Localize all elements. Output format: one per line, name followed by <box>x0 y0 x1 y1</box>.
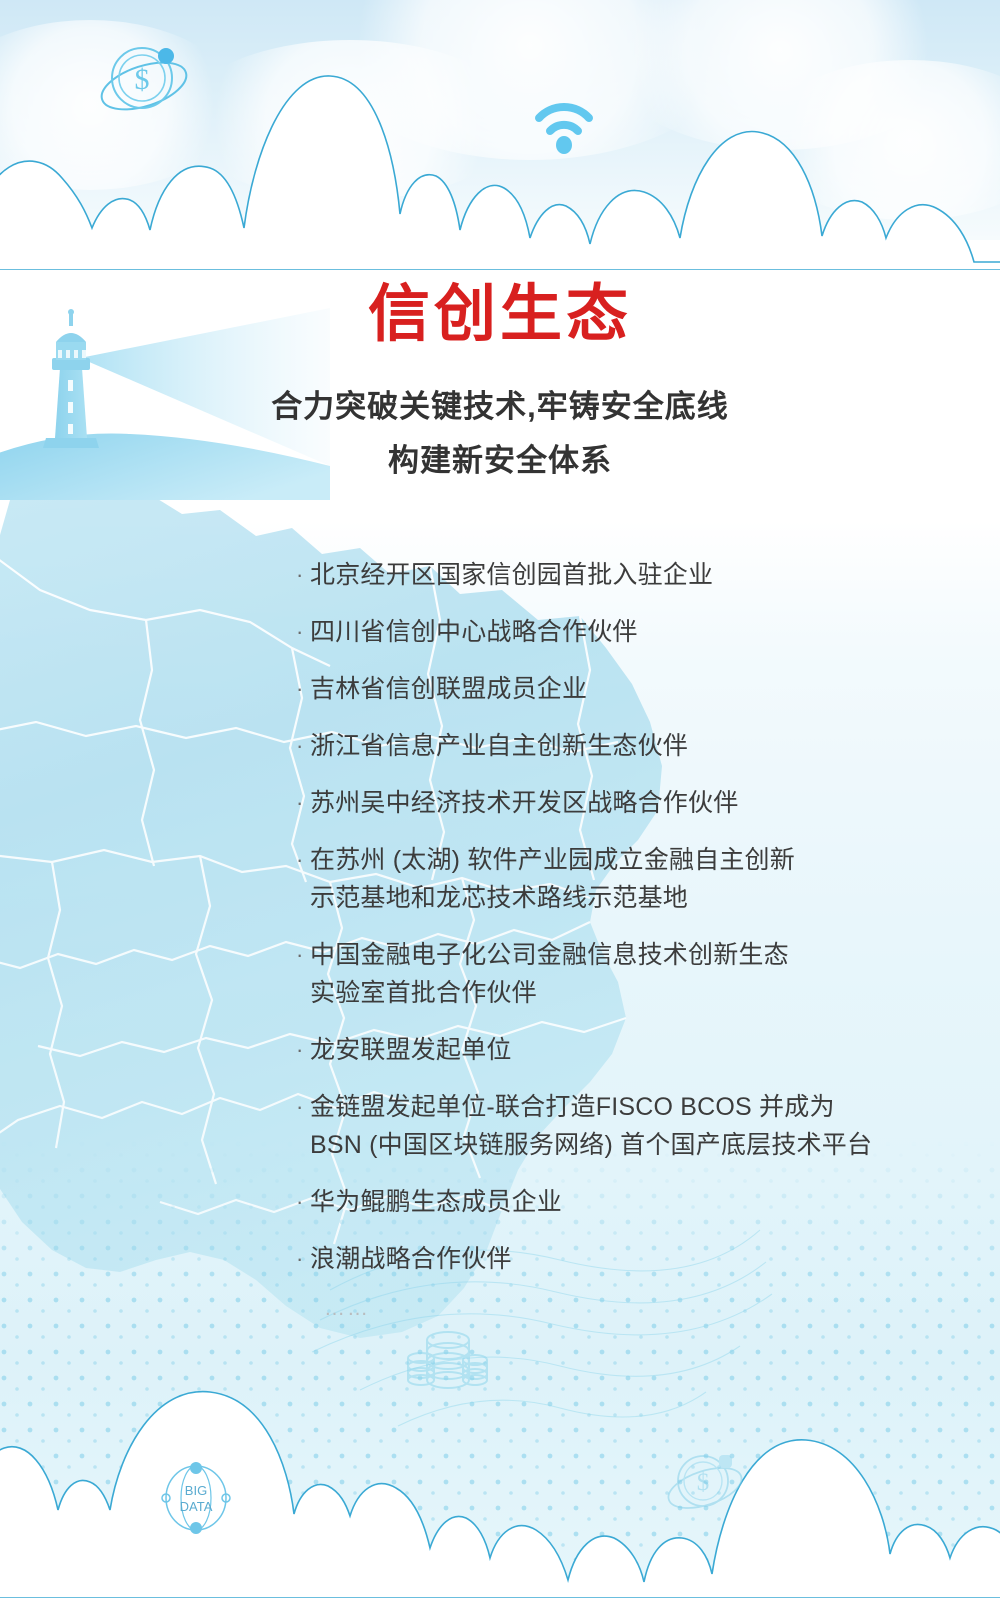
list-item: ·龙安联盟发起单位 <box>296 1031 936 1069</box>
list-item-label: 金链盟发起单位-联合打造FISCO BCOS 并成为 BSN (中国区块链服务网… <box>310 1088 936 1164</box>
poster-root: $ <box>0 0 1000 1598</box>
list-item-label: 龙安联盟发起单位 <box>310 1031 936 1069</box>
list-item-label: 苏州吴中经济技术开发区战略合作伙伴 <box>310 784 936 822</box>
list-item-label: 浙江省信息产业自主创新生态伙伴 <box>310 727 936 765</box>
list-item-label: 北京经开区国家信创园首批入驻企业 <box>310 556 936 594</box>
page-title: 信创生态 <box>0 282 1000 347</box>
list-item-label: 吉林省信创联盟成员企业 <box>310 670 936 708</box>
bullet-marker-icon: · <box>296 936 310 974</box>
list-item-label: 华为鲲鹏生态成员企业 <box>310 1183 936 1221</box>
list-item: ·金链盟发起单位-联合打造FISCO BCOS 并成为 BSN (中国区块链服务… <box>296 1088 936 1164</box>
list-item: ·在苏州 (太湖) 软件产业园成立金融自主创新 示范基地和龙芯技术路线示范基地 <box>296 841 936 917</box>
list-item: ·北京经开区国家信创园首批入驻企业 <box>296 556 936 594</box>
list-ellipsis: …… <box>324 1297 936 1321</box>
list-item-label: 中国金融电子化公司金融信息技术创新生态 实验室首批合作伙伴 <box>310 936 936 1012</box>
bullet-marker-icon: · <box>296 556 310 594</box>
bullet-marker-icon: · <box>296 784 310 822</box>
list-item: ·吉林省信创联盟成员企业 <box>296 670 936 708</box>
list-item: ·浙江省信息产业自主创新生态伙伴 <box>296 727 936 765</box>
achievements-list: ·北京经开区国家信创园首批入驻企业·四川省信创中心战略合作伙伴·吉林省信创联盟成… <box>296 556 936 1321</box>
subtitle-line-1: 合力突破关键技术,牢铸安全底线 <box>0 386 1000 428</box>
list-item-label: 在苏州 (太湖) 软件产业园成立金融自主创新 示范基地和龙芯技术路线示范基地 <box>310 841 936 917</box>
bullet-marker-icon: · <box>296 727 310 765</box>
bullet-marker-icon: · <box>296 841 310 879</box>
list-item: ·四川省信创中心战略合作伙伴 <box>296 613 936 651</box>
bullet-marker-icon: · <box>296 1031 310 1069</box>
bullet-marker-icon: · <box>296 1088 310 1126</box>
poster-content: 信创生态 合力突破关键技术,牢铸安全底线 构建新安全体系 ·北京经开区国家信创园… <box>0 0 1000 1598</box>
list-item-label: 四川省信创中心战略合作伙伴 <box>310 613 936 651</box>
list-item: ·浪潮战略合作伙伴 <box>296 1240 936 1278</box>
bullet-marker-icon: · <box>296 1183 310 1221</box>
list-item: ·中国金融电子化公司金融信息技术创新生态 实验室首批合作伙伴 <box>296 936 936 1012</box>
bullet-marker-icon: · <box>296 670 310 708</box>
bullet-marker-icon: · <box>296 1240 310 1278</box>
subtitle-line-2: 构建新安全体系 <box>0 440 1000 482</box>
list-item-label: 浪潮战略合作伙伴 <box>310 1240 936 1278</box>
bullet-marker-icon: · <box>296 613 310 651</box>
list-item: ·华为鲲鹏生态成员企业 <box>296 1183 936 1221</box>
list-item: ·苏州吴中经济技术开发区战略合作伙伴 <box>296 784 936 822</box>
